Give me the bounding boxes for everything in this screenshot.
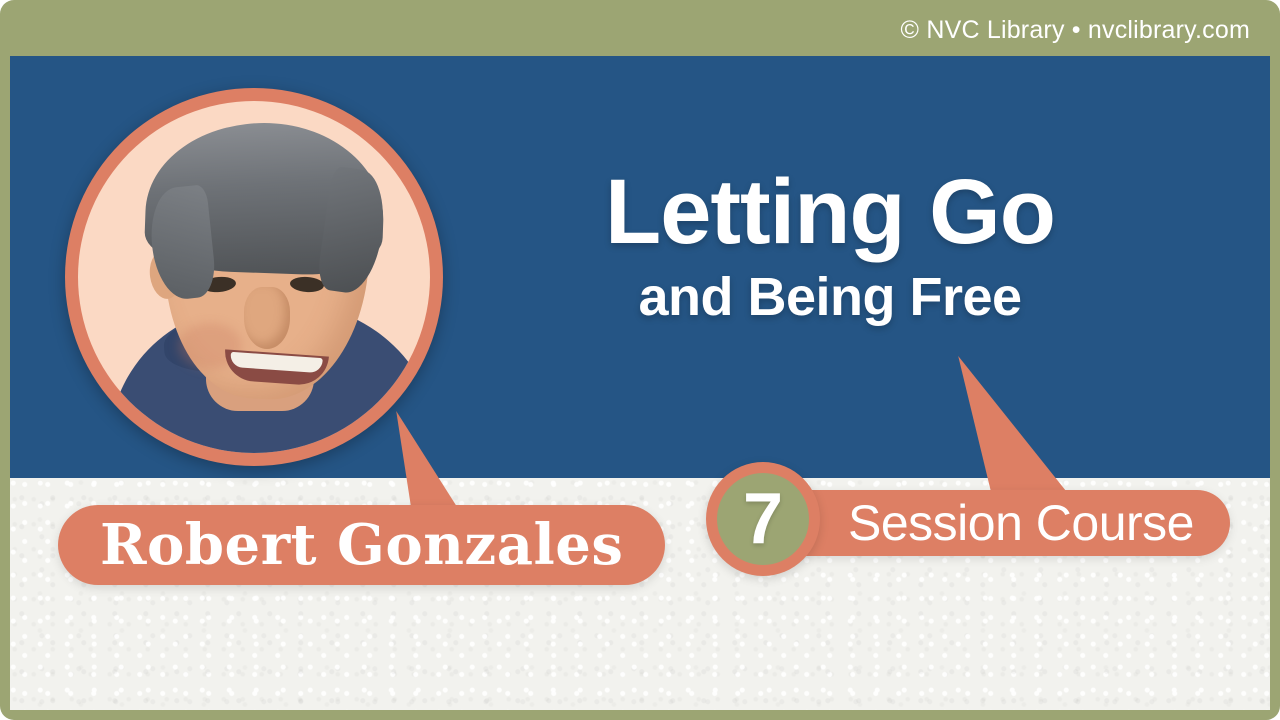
presenter-name-badge: Robert Gonzales [58,505,665,585]
session-count-disc: 7 [717,473,809,565]
course-title-main: Letting Go [480,166,1180,258]
presenter-portrait-ring [65,88,443,466]
session-course-label: Session Course [848,498,1194,548]
session-count-ring: 7 [706,462,820,576]
session-count-number: 7 [743,483,783,555]
presenter-name-label: Robert Gonzales [100,517,623,573]
course-title-subtitle: and Being Free [480,270,1180,324]
session-course-pill: Session Course [770,490,1230,556]
portrait-teeth [230,352,323,373]
copyright-notice: © NVC Library • nvclibrary.com [901,6,1250,54]
presenter-portrait-photo [78,101,430,453]
portrait-nose [244,287,290,349]
poster-canvas: Letting Go and Being Free Robert Gonzale… [10,56,1270,710]
course-title-block: Letting Go and Being Free [480,166,1180,324]
course-promo-poster: © NVC Library • nvclibrary.com [0,0,1280,720]
